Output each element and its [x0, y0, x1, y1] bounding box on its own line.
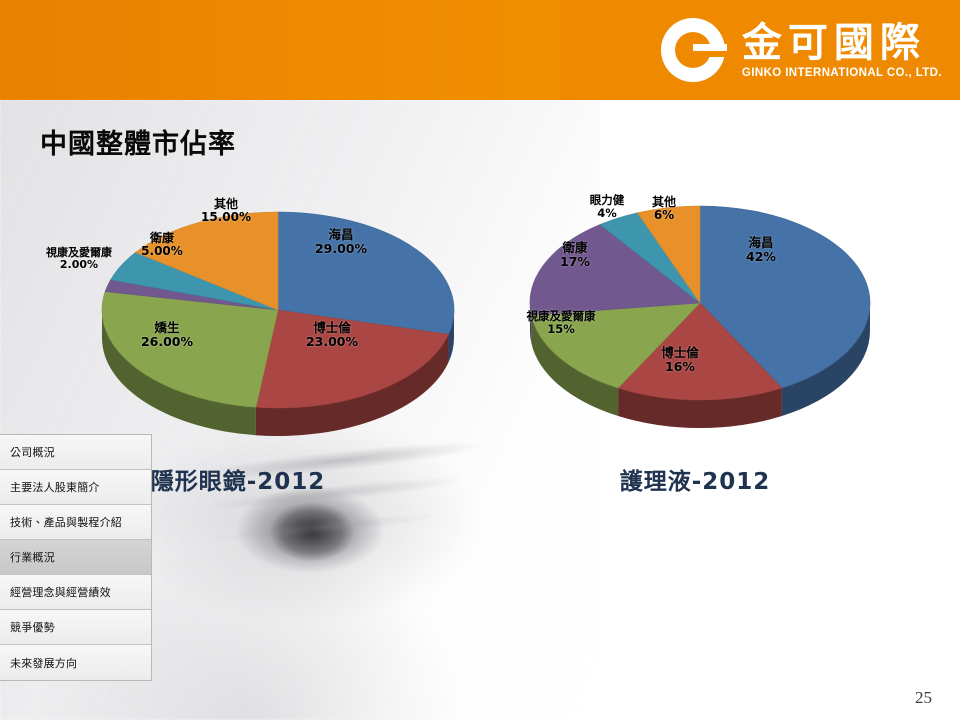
pie-label-category: 海昌 — [706, 236, 816, 250]
sidebar-item-label: 經營理念與經營績效 — [10, 584, 111, 600]
pie-label-category: 視康及愛爾康 — [506, 310, 616, 323]
sidebar-item-6[interactable]: 未來發展方向 — [0, 645, 151, 680]
pie-data-label-care-solution-2012-其他: 其他6% — [609, 196, 719, 223]
sidebar-item-label: 公司概況 — [10, 444, 55, 460]
sidebar-item-label: 競爭優勢 — [10, 619, 55, 635]
sidebar-item-4[interactable]: 經營理念與經營績效 — [0, 575, 151, 610]
pie-data-label-care-solution-2012-海昌: 海昌42% — [706, 236, 816, 264]
pie-data-label-care-solution-2012-衛康: 衛康17% — [520, 241, 630, 269]
pie-label-value: 17% — [520, 255, 630, 269]
pie-label-category: 博士倫 — [625, 346, 735, 360]
pie-label-value: 15% — [506, 323, 616, 336]
sidebar-item-label: 主要法人股東簡介 — [10, 479, 100, 495]
sidebar-item-0[interactable]: 公司概況 — [0, 435, 151, 470]
sidebar-item-label: 技術、產品與製程介紹 — [10, 514, 122, 530]
pie-data-label-care-solution-2012-視康及愛爾康: 視康及愛爾康15% — [506, 310, 616, 336]
sidebar-nav: 公司概況主要法人股東簡介技術、產品與製程介紹行業概況經營理念與經營績效競爭優勢未… — [0, 434, 152, 681]
sidebar-item-5[interactable]: 競爭優勢 — [0, 610, 151, 645]
pie-label-value: 6% — [609, 209, 719, 222]
pie-data-label-care-solution-2012-博士倫: 博士倫16% — [625, 346, 735, 374]
sidebar-item-label: 行業概況 — [10, 549, 55, 565]
sidebar-item-2[interactable]: 技術、產品與製程介紹 — [0, 505, 151, 540]
pie-label-value: 42% — [706, 250, 816, 264]
pie-label-value: 16% — [625, 360, 735, 374]
chart-caption-care-solution-2012: 護理液-2012 — [565, 462, 825, 496]
sidebar-item-1[interactable]: 主要法人股東簡介 — [0, 470, 151, 505]
sidebar-item-3[interactable]: 行業概況 — [0, 540, 151, 575]
sidebar-item-label: 未來發展方向 — [10, 655, 77, 671]
pie-label-category: 衛康 — [520, 241, 630, 255]
page-number: 25 — [915, 688, 932, 708]
